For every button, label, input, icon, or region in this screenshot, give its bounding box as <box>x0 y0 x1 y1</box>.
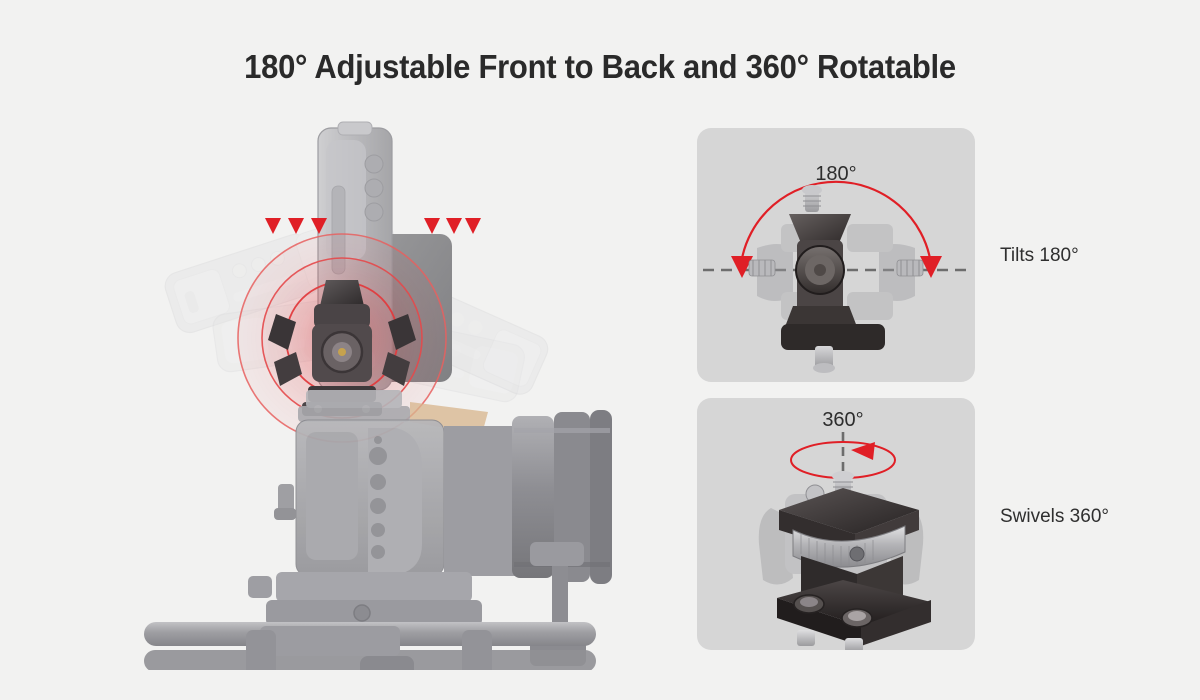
rotation-arrowhead <box>851 442 875 460</box>
arrow-marker <box>288 218 304 234</box>
rod-support-system <box>144 622 596 670</box>
camera-lens <box>444 410 612 584</box>
swivel-angle-label: 360° <box>822 409 863 431</box>
feature-card-tilt: 180° <box>697 128 975 382</box>
caption-swivel: Swivels 360° <box>1000 506 1109 528</box>
caption-tilt: Tilts 180° <box>1000 245 1079 267</box>
feature-graphic: 180° Adjustable Front to Back and 360° R… <box>0 0 1200 700</box>
page-title: 180° Adjustable Front to Back and 360° R… <box>36 48 1164 86</box>
arrow-marker <box>446 218 462 234</box>
hero-illustration <box>60 110 680 670</box>
arrow-marker <box>424 218 440 234</box>
arrow-marker <box>265 218 281 234</box>
base-plate <box>777 580 931 650</box>
tilt-angle-label: 180° <box>815 163 856 185</box>
mount-body-front <box>781 185 885 373</box>
camera-cage <box>274 420 444 576</box>
feature-card-swivel: SmallRig 360° <box>697 398 975 650</box>
arrow-marker <box>465 218 481 234</box>
base-plate <box>248 572 482 626</box>
